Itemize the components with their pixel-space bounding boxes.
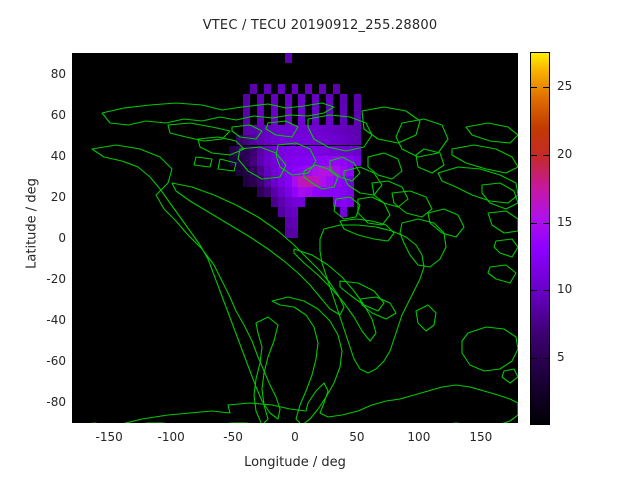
- vtec-cell: [312, 176, 319, 186]
- vtec-cell: [326, 94, 333, 104]
- vtec-cell: [305, 84, 312, 94]
- colorbar-tick-label: 10: [557, 283, 572, 295]
- vtec-cell: [354, 135, 361, 145]
- vtec-cell: [285, 104, 292, 114]
- vtec-cell: [298, 146, 305, 156]
- vtec-cell: [319, 176, 326, 186]
- vtec-cell: [264, 146, 271, 156]
- colorbar-tick-mark: [531, 87, 537, 88]
- colorbar-tick-mark: [543, 223, 549, 224]
- vtec-cell: [312, 166, 319, 176]
- vtec-cell: [354, 146, 361, 156]
- vtec-cell: [278, 156, 285, 166]
- vtec-cell: [257, 176, 264, 186]
- page-title: VTEC / TECU 20190912_255.28800: [0, 18, 640, 33]
- vtec-cell: [278, 187, 285, 197]
- vtec-cell: [285, 207, 292, 217]
- vtec-cell: [285, 125, 292, 135]
- vtec-cell: [326, 115, 333, 125]
- vtec-cell: [271, 166, 278, 176]
- vtec-cell: [312, 156, 319, 166]
- vtec-cell: [305, 135, 312, 145]
- vtec-cell: [347, 146, 354, 156]
- vtec-cell: [257, 146, 264, 156]
- vtec-cell: [271, 115, 278, 125]
- vtec-cell: [312, 146, 319, 156]
- vtec-cell: [250, 125, 257, 135]
- vtec-cell: [333, 187, 340, 197]
- y-tick-label: 60: [32, 109, 66, 121]
- vtec-cell: [250, 146, 257, 156]
- vtec-cell: [243, 125, 250, 135]
- colorbar-gradient: [531, 53, 549, 424]
- x-tick-label: 50: [327, 430, 387, 444]
- x-tick-label: 0: [265, 430, 325, 444]
- vtec-cell: [229, 156, 236, 166]
- vtec-cell: [278, 84, 285, 94]
- vtec-cell: [340, 166, 347, 176]
- vtec-cell: [285, 197, 292, 207]
- vtec-cell: [250, 84, 257, 94]
- colorbar-tick-mark: [531, 290, 537, 291]
- map-plot-area[interactable]: [72, 53, 518, 423]
- vtec-cell: [285, 176, 292, 186]
- vtec-cell: [347, 187, 354, 197]
- vtec-cell: [271, 146, 278, 156]
- x-tick-label: 100: [389, 430, 449, 444]
- vtec-cell: [340, 94, 347, 104]
- vtec-cell: [243, 135, 250, 145]
- vtec-cell: [319, 84, 326, 94]
- vtec-cell: [298, 166, 305, 176]
- vtec-cell: [264, 135, 271, 145]
- vtec-cell: [257, 125, 264, 135]
- vtec-cell: [229, 146, 236, 156]
- vtec-cell: [340, 187, 347, 197]
- vtec-cell: [340, 104, 347, 114]
- vtec-cell: [333, 156, 340, 166]
- vtec-cell: [292, 187, 299, 197]
- vtec-cell: [243, 166, 250, 176]
- colorbar-tick-mark: [531, 155, 537, 156]
- vtec-cell: [292, 156, 299, 166]
- colorbar-tick-mark: [531, 358, 537, 359]
- vtec-cell: [312, 125, 319, 135]
- vtec-cell: [340, 176, 347, 186]
- vtec-cell: [292, 84, 299, 94]
- vtec-cell: [292, 217, 299, 227]
- vtec-cell: [257, 187, 264, 197]
- colorbar-tick-mark: [543, 358, 549, 359]
- vtec-cell: [305, 187, 312, 197]
- vtec-cell: [333, 135, 340, 145]
- vtec-cell: [264, 176, 271, 186]
- vtec-cell: [278, 135, 285, 145]
- x-tick-label: -50: [203, 430, 263, 444]
- vtec-cell: [264, 84, 271, 94]
- vtec-cell: [285, 217, 292, 227]
- vtec-cell: [285, 115, 292, 125]
- vtec-cell: [285, 135, 292, 145]
- vtec-figure: VTEC / TECU 20190912_255.28800: [0, 0, 640, 480]
- vtec-cell: [236, 135, 243, 145]
- vtec-cell: [250, 176, 257, 186]
- vtec-cell: [340, 125, 347, 135]
- vtec-cell: [257, 156, 264, 166]
- vtec-cell: [292, 125, 299, 135]
- x-axis-ticks: -150-100-50050100150: [72, 430, 518, 450]
- vtec-cell: [326, 125, 333, 135]
- vtec-cell: [298, 176, 305, 186]
- vtec-cell: [312, 104, 319, 114]
- vtec-cell: [271, 104, 278, 114]
- vtec-cell: [257, 94, 264, 104]
- colorbar[interactable]: [530, 52, 550, 425]
- vtec-cell: [326, 187, 333, 197]
- vtec-cell: [340, 197, 347, 207]
- vtec-cell: [305, 156, 312, 166]
- vtec-cell: [312, 135, 319, 145]
- vtec-cell: [312, 187, 319, 197]
- vtec-cell: [264, 156, 271, 166]
- vtec-cell: [319, 125, 326, 135]
- vtec-cell: [250, 135, 257, 145]
- vtec-cell: [243, 94, 250, 104]
- vtec-cell: [278, 207, 285, 217]
- vtec-cell: [326, 146, 333, 156]
- vtec-cell: [271, 156, 278, 166]
- vtec-cell: [278, 176, 285, 186]
- vtec-cell: [243, 104, 250, 114]
- vtec-cell: [285, 94, 292, 104]
- vtec-cell: [257, 135, 264, 145]
- colorbar-tick-label: 25: [557, 80, 572, 92]
- vtec-cell: [305, 146, 312, 156]
- vtec-cell: [250, 156, 257, 166]
- colorbar-tick-mark: [543, 87, 549, 88]
- vtec-heatmap-layer: [72, 53, 518, 423]
- vtec-cell: [271, 187, 278, 197]
- vtec-cell: [347, 176, 354, 186]
- vtec-cell: [264, 166, 271, 176]
- vtec-cell: [250, 166, 257, 176]
- vtec-cell: [271, 125, 278, 135]
- vtec-cell: [326, 104, 333, 114]
- vtec-cell: [236, 146, 243, 156]
- vtec-cell: [271, 197, 278, 207]
- vtec-cell: [347, 125, 354, 135]
- vtec-cell: [243, 115, 250, 125]
- vtec-cell: [271, 94, 278, 104]
- vtec-cell: [354, 125, 361, 135]
- vtec-cell: [292, 166, 299, 176]
- vtec-cell: [236, 166, 243, 176]
- vtec-cell: [347, 197, 354, 207]
- vtec-cell: [326, 135, 333, 145]
- vtec-cell: [333, 166, 340, 176]
- vtec-cell: [354, 115, 361, 125]
- vtec-cell: [292, 146, 299, 156]
- vtec-cell: [340, 115, 347, 125]
- vtec-cell: [285, 146, 292, 156]
- vtec-cell: [319, 187, 326, 197]
- colorbar-tick-label: 15: [557, 216, 572, 228]
- vtec-cell: [333, 146, 340, 156]
- y-tick-label: -40: [32, 314, 66, 326]
- vtec-cell: [271, 176, 278, 186]
- vtec-cell: [236, 156, 243, 166]
- vtec-cell: [340, 146, 347, 156]
- vtec-cell: [271, 135, 278, 145]
- vtec-cell: [278, 125, 285, 135]
- colorbar-tick-mark: [543, 155, 549, 156]
- vtec-cell: [326, 176, 333, 186]
- vtec-cell: [285, 187, 292, 197]
- vtec-cell: [298, 187, 305, 197]
- vtec-cell: [312, 115, 319, 125]
- vtec-cell: [340, 156, 347, 166]
- y-tick-label: -60: [32, 355, 66, 367]
- vtec-cell: [347, 156, 354, 166]
- vtec-cell: [278, 197, 285, 207]
- vtec-cell: [257, 115, 264, 125]
- colorbar-tick-label: 20: [557, 148, 572, 160]
- x-tick-label: 150: [451, 430, 511, 444]
- vtec-cell: [243, 156, 250, 166]
- vtec-cell: [333, 176, 340, 186]
- vtec-cell: [354, 104, 361, 114]
- y-tick-label: -80: [32, 396, 66, 408]
- vtec-cell: [326, 156, 333, 166]
- vtec-cell: [292, 207, 299, 217]
- vtec-cell: [319, 135, 326, 145]
- vtec-cell: [257, 104, 264, 114]
- vtec-cell: [354, 94, 361, 104]
- y-tick-label: 80: [32, 68, 66, 80]
- vtec-cell: [333, 197, 340, 207]
- vtec-cell: [333, 84, 340, 94]
- vtec-cell: [292, 176, 299, 186]
- vtec-cell: [340, 135, 347, 145]
- vtec-cell: [292, 135, 299, 145]
- vtec-cell: [305, 166, 312, 176]
- vtec-cell: [298, 104, 305, 114]
- vtec-cell: [278, 166, 285, 176]
- vtec-cell: [347, 135, 354, 145]
- vtec-cell: [243, 176, 250, 186]
- vtec-cell: [305, 125, 312, 135]
- vtec-cell: [243, 146, 250, 156]
- x-tick-label: -100: [141, 430, 201, 444]
- vtec-cell: [278, 146, 285, 156]
- vtec-cell: [298, 197, 305, 207]
- vtec-cell: [285, 53, 292, 63]
- vtec-cell: [305, 176, 312, 186]
- vtec-cell: [354, 156, 361, 166]
- vtec-cell: [285, 156, 292, 166]
- colorbar-tick-mark: [543, 290, 549, 291]
- vtec-cell: [333, 125, 340, 135]
- x-tick-label: -150: [79, 430, 139, 444]
- vtec-cell: [298, 135, 305, 145]
- vtec-cell: [264, 125, 271, 135]
- vtec-cell: [319, 166, 326, 176]
- vtec-cell: [340, 207, 347, 217]
- vtec-cell: [285, 166, 292, 176]
- vtec-cell: [319, 156, 326, 166]
- vtec-cell: [298, 94, 305, 104]
- y-axis-label: Latitude / deg: [25, 144, 40, 304]
- x-axis-label: Longitude / deg: [72, 455, 518, 470]
- vtec-cell: [292, 197, 299, 207]
- vtec-cell: [264, 187, 271, 197]
- vtec-cell: [326, 166, 333, 176]
- vtec-cell: [298, 115, 305, 125]
- vtec-cell: [298, 156, 305, 166]
- vtec-cell: [347, 166, 354, 176]
- vtec-cell: [319, 146, 326, 156]
- colorbar-tick-mark: [531, 223, 537, 224]
- colorbar-tick-label: 5: [557, 351, 565, 363]
- vtec-cell: [298, 125, 305, 135]
- vtec-cell: [257, 166, 264, 176]
- vtec-cell: [285, 228, 292, 238]
- vtec-cell: [292, 228, 299, 238]
- vtec-cell: [312, 94, 319, 104]
